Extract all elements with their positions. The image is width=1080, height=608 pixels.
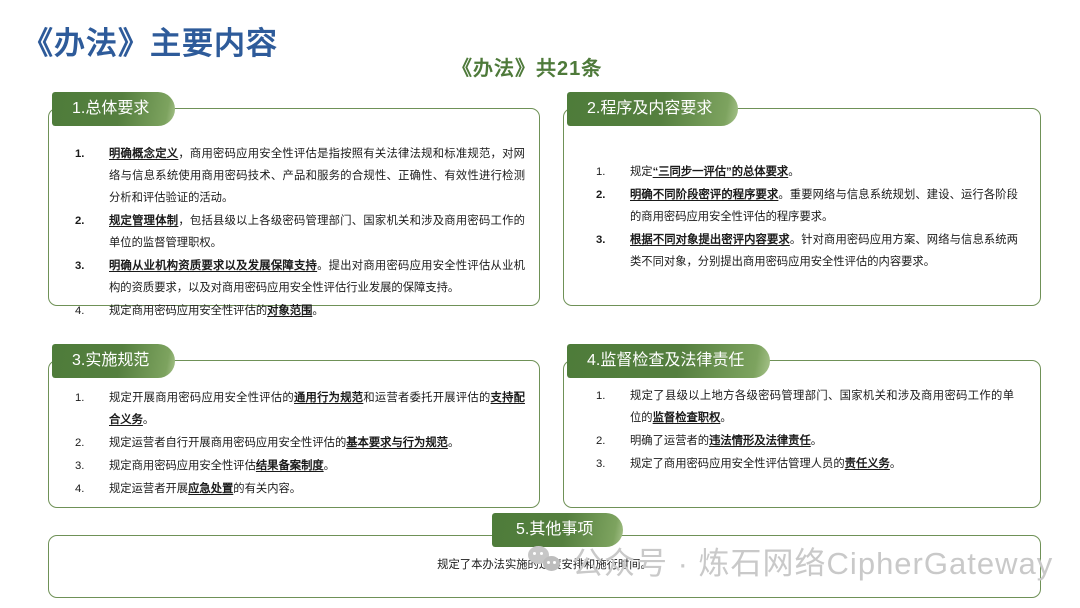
panel-5-paragraph: 规定了本办法实施的过渡安排和施行时间。 — [49, 556, 1040, 572]
list-item: 规定运营者开展应急处置的有关内容。 — [65, 478, 525, 500]
list-item: 规定开展商用密码应用安全性评估的通用行为规范和运营者委托开展评估的支持配合义务。 — [65, 387, 525, 431]
list-item-text: 规定商用密码应用安全性评估 — [109, 460, 256, 472]
highlighted-term: “三同步一评估”的总体要求 — [653, 166, 789, 178]
panel-4-list: 规定了县级以上地方各级密码管理部门、国家机关和涉及商用密码工作的单位的监督检查职… — [586, 385, 1014, 475]
list-item-text: 的有关内容。 — [233, 483, 301, 495]
panel-tab-3[interactable]: 3.实施规范 — [52, 344, 175, 378]
panel-tab-2[interactable]: 2.程序及内容要求 — [567, 92, 738, 126]
highlighted-term: 对象范围 — [267, 305, 312, 317]
list-item-text: 。 — [890, 458, 901, 470]
list-item-text: 规定了商用密码应用安全性评估管理人员的 — [630, 458, 845, 470]
list-item-text: 规定运营者自行开展商用密码应用安全性评估的 — [109, 437, 346, 449]
highlighted-term: 明确概念定义 — [109, 148, 178, 160]
list-item-text: 。 — [448, 437, 459, 449]
list-item: 规定了县级以上地方各级密码管理部门、国家机关和涉及商用密码工作的单位的监督检查职… — [586, 385, 1014, 429]
panel-tab-4[interactable]: 4.监督检查及法律责任 — [567, 344, 770, 378]
list-item-text: 规定商用密码应用安全性评估的 — [109, 305, 267, 317]
content-panel-4: 规定了县级以上地方各级密码管理部门、国家机关和涉及商用密码工作的单位的监督检查职… — [563, 360, 1041, 508]
panel-4-body: 规定了县级以上地方各级密码管理部门、国家机关和涉及商用密码工作的单位的监督检查职… — [564, 385, 1040, 476]
list-item: 规定运营者自行开展商用密码应用安全性评估的基本要求与行为规范。 — [65, 432, 525, 454]
list-item: 明确不同阶段密评的程序要求。重要网络与信息系统规划、建设、运行各阶段的商用密码应… — [586, 184, 1018, 228]
panel-1-body: 明确概念定义，商用密码应用安全性评估是指按照有关法律法规和标准规范，对网络与信息… — [49, 143, 539, 323]
list-item-text: 和运营者委托开展评估的 — [363, 392, 490, 404]
highlighted-term: 违法情形及法律责任 — [709, 435, 811, 447]
list-item: 明确从业机构资质要求以及发展保障支持。提出对商用密码应用安全性评估从业机构的资质… — [65, 255, 525, 299]
list-item-text: 规定 — [630, 166, 653, 178]
list-item: 规定商用密码应用安全性评估的对象范围。 — [65, 300, 525, 322]
highlighted-term: 应急处置 — [188, 483, 233, 495]
list-item: 规定了商用密码应用安全性评估管理人员的责任义务。 — [586, 453, 1014, 475]
panel-3-list: 规定开展商用密码应用安全性评估的通用行为规范和运营者委托开展评估的支持配合义务。… — [65, 387, 525, 500]
list-item-text: 。 — [143, 414, 154, 426]
page-subtitle: 《办法》共21条 — [452, 52, 602, 81]
panel-tab-1[interactable]: 1.总体要求 — [52, 92, 175, 126]
list-item: 根据不同对象提出密评内容要求。针对商用密码应用方案、网络与信息系统两类不同对象，… — [586, 229, 1018, 273]
page-title: 《办法》主要内容 — [22, 18, 278, 63]
highlighted-term: 通用行为规范 — [294, 392, 363, 404]
highlighted-term: 监督检查职权 — [653, 412, 721, 424]
list-item: 明确了运营者的违法情形及法律责任。 — [586, 430, 1014, 452]
panel-3-body: 规定开展商用密码应用安全性评估的通用行为规范和运营者委托开展评估的支持配合义务。… — [49, 387, 539, 501]
list-item: 规定管理体制，包括县级以上各级密码管理部门、国家机关和涉及商用密码工作的单位的监… — [65, 210, 525, 254]
panel-2-body: 规定“三同步一评估”的总体要求。明确不同阶段密评的程序要求。重要网络与信息系统规… — [564, 161, 1040, 274]
list-item: 规定“三同步一评估”的总体要求。 — [586, 161, 1018, 183]
list-item-text: 明确了运营者的 — [630, 435, 709, 447]
highlighted-term: 基本要求与行为规范 — [346, 437, 448, 449]
list-item-text: 规定开展商用密码应用安全性评估的 — [109, 392, 294, 404]
panel-tab-5[interactable]: 5.其他事项 — [492, 513, 623, 547]
content-panel-1: 明确概念定义，商用密码应用安全性评估是指按照有关法律法规和标准规范，对网络与信息… — [48, 108, 540, 306]
highlighted-term: 明确从业机构资质要求以及发展保障支持 — [109, 260, 317, 272]
highlighted-term: 明确不同阶段密评的程序要求 — [630, 189, 778, 201]
highlighted-term: 结果备案制度 — [256, 460, 324, 472]
highlighted-term: 责任义务 — [845, 458, 890, 470]
panel-1-list: 明确概念定义，商用密码应用安全性评估是指按照有关法律法规和标准规范，对网络与信息… — [65, 143, 525, 322]
list-item-text: 。 — [788, 166, 799, 178]
panel-2-list: 规定“三同步一评估”的总体要求。明确不同阶段密评的程序要求。重要网络与信息系统规… — [586, 161, 1018, 273]
list-item: 明确概念定义，商用密码应用安全性评估是指按照有关法律法规和标准规范，对网络与信息… — [65, 143, 525, 209]
highlighted-term: 根据不同对象提出密评内容要求 — [630, 234, 790, 246]
content-panel-3: 规定开展商用密码应用安全性评估的通用行为规范和运营者委托开展评估的支持配合义务。… — [48, 360, 540, 508]
list-item-text: 。 — [720, 412, 731, 424]
list-item: 规定商用密码应用安全性评估结果备案制度。 — [65, 455, 525, 477]
slide-canvas: 《办法》主要内容 《办法》共21条 明确概念定义，商用密码应用安全性评估是指按照… — [0, 0, 1080, 608]
list-item-text: 。 — [324, 460, 335, 472]
highlighted-term: 规定管理体制 — [109, 215, 178, 227]
content-panel-2: 规定“三同步一评估”的总体要求。明确不同阶段密评的程序要求。重要网络与信息系统规… — [563, 108, 1041, 306]
list-item-text: 。 — [312, 305, 323, 317]
list-item-text: 。 — [811, 435, 822, 447]
list-item-text: 规定运营者开展 — [109, 483, 188, 495]
